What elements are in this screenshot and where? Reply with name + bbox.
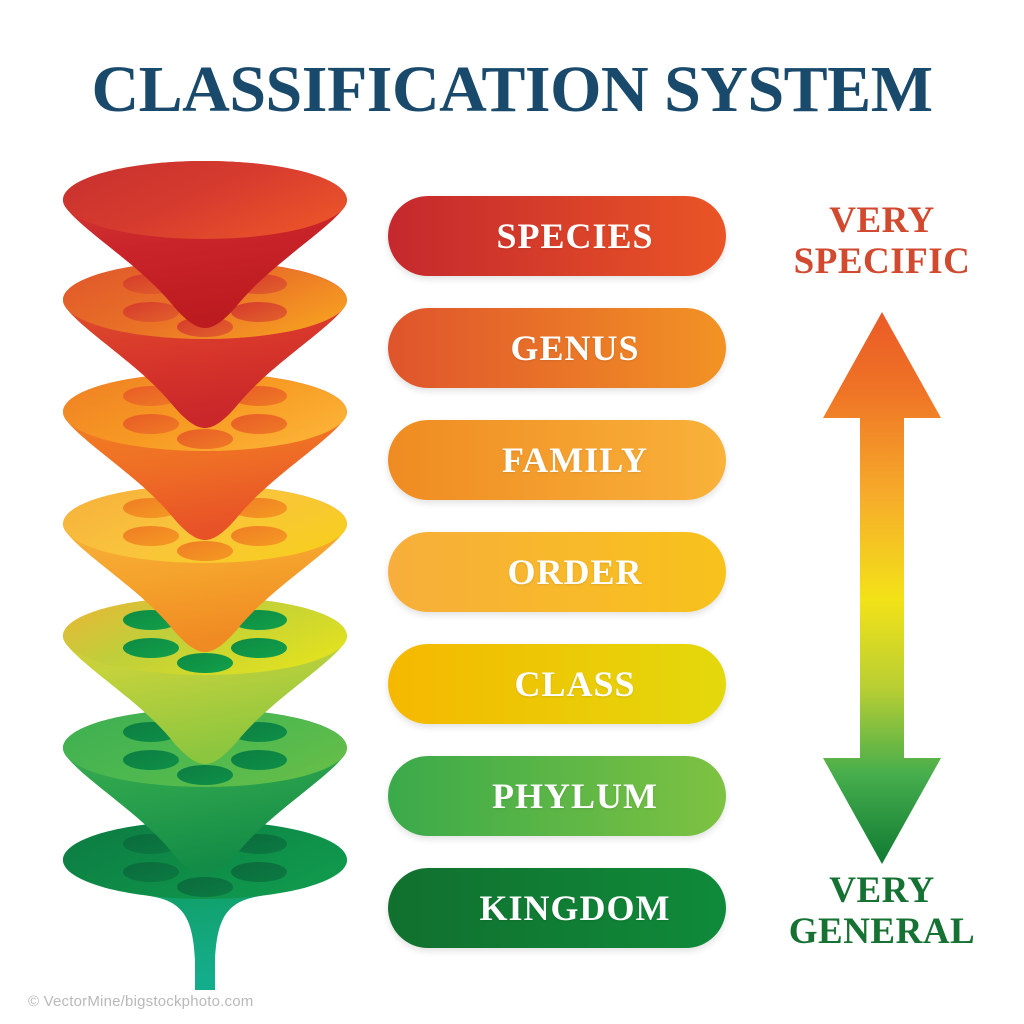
double-headed-arrow-icon — [817, 308, 947, 868]
watermark-credit: © VectorMine/bigstockphoto.com — [28, 993, 254, 1010]
infographic-canvas: CLASSIFICATION SYSTEM — [0, 0, 1024, 1024]
rank-pill-family[interactable]: FAMILY — [388, 420, 726, 500]
rank-label-list: SPECIES GENUS FAMILY ORDER CLASS PHYLUM … — [388, 196, 728, 956]
rank-pill-genus[interactable]: GENUS — [388, 308, 726, 388]
rank-pill-kingdom[interactable]: KINGDOM — [388, 868, 726, 948]
specificity-scale: VERY SPECIFIC VERY GENERAL — [740, 190, 1024, 980]
double-arrow-wrapper — [740, 308, 1024, 868]
scale-bottom-label: VERY GENERAL — [740, 870, 1024, 952]
rank-label: SPECIES — [496, 215, 653, 257]
rank-label: CLASS — [514, 663, 635, 705]
rank-label: KINGDOM — [480, 887, 671, 929]
rank-label: FAMILY — [502, 439, 648, 481]
rank-pill-class[interactable]: CLASS — [388, 644, 726, 724]
rank-pill-species[interactable]: SPECIES — [388, 196, 726, 276]
funnel-graphic — [40, 160, 370, 1000]
rank-label: ORDER — [507, 551, 642, 593]
scale-top-label: VERY SPECIFIC — [740, 200, 1024, 282]
rank-label: PHYLUM — [492, 775, 658, 817]
page-title: CLASSIFICATION SYSTEM — [0, 52, 1024, 128]
rank-pill-order[interactable]: ORDER — [388, 532, 726, 612]
rank-label: GENUS — [510, 327, 639, 369]
rank-pill-phylum[interactable]: PHYLUM — [388, 756, 726, 836]
funnel-stack — [40, 160, 370, 1000]
